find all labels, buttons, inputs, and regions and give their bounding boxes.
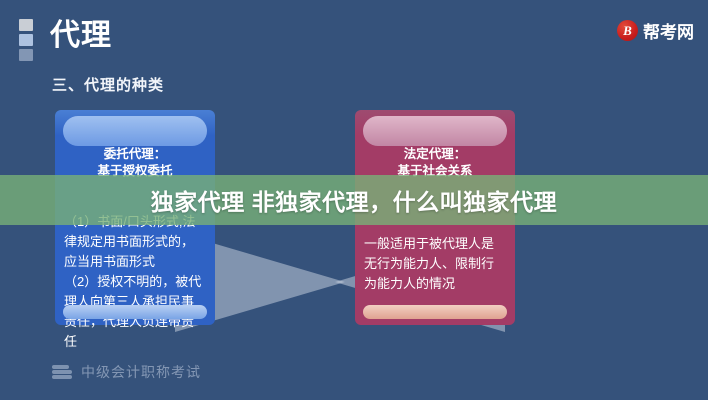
overlay-headline: 独家代理 非独家代理，什么叫独家代理 <box>0 175 708 225</box>
book-stack-icon <box>52 365 72 380</box>
brand-logo: B 帮考网 <box>617 18 694 43</box>
panel-heading-line-1: 委托代理： <box>65 146 205 163</box>
panel-body: （1）书面/口头形式,法律规定用书面形式的，应当用书面形式 （2）授权不明的，被… <box>64 212 206 352</box>
brand-badge-icon: B <box>617 20 638 41</box>
marker-square-3 <box>19 49 33 61</box>
marker-square-2 <box>19 34 33 46</box>
panel-foot <box>63 305 207 319</box>
panel-cap <box>63 116 207 146</box>
page-title: 代理 <box>50 16 112 56</box>
slide-section-heading: 三、代理的种类 <box>52 74 164 95</box>
brand-name: 帮考网 <box>643 18 694 43</box>
panel-cap <box>363 116 507 146</box>
panel-body: 一般适用于被代理人是无行为能力人、限制行为能力人的情况 <box>364 234 506 294</box>
panel-body-item-1: 一般适用于被代理人是无行为能力人、限制行为能力人的情况 <box>364 234 506 294</box>
marker-squares-icon <box>19 19 34 62</box>
watermark: 中级会计职称考试 <box>52 362 201 382</box>
slide-canvas: 代理 三、代理的种类 B 帮考网 委托代理： 基于授权委托 （1）书面/口头形式… <box>0 0 708 400</box>
panel-foot <box>363 305 507 319</box>
watermark-label: 中级会计职称考试 <box>81 362 201 382</box>
panel-heading-line-1: 法定代理： <box>365 146 505 163</box>
marker-square-1 <box>19 19 33 31</box>
